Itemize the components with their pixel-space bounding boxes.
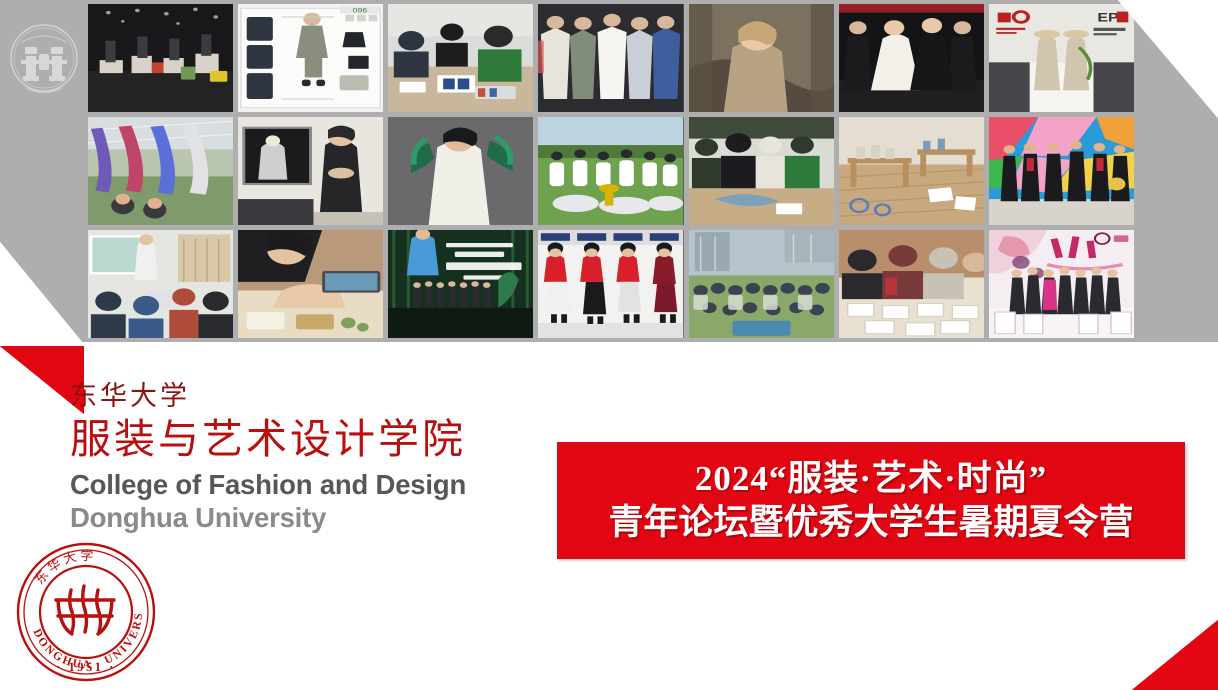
photo-grid: 096 (88, 4, 1134, 338)
band-corner-cut-top-right (1118, 0, 1218, 118)
grid-photo-16 (238, 230, 383, 338)
grid-photo-4 (538, 4, 683, 112)
donghua-university-seal-icon: DONGHUA UNIVERSITY 东华大学 · 1951 · (12, 538, 160, 686)
grid-photo-18 (538, 230, 683, 338)
grid-photo-13 (839, 117, 984, 225)
svg-text:096: 096 (353, 7, 368, 15)
grid-photo-20 (839, 230, 984, 338)
grid-photo-12 (689, 117, 834, 225)
college-name-cn: 服装与艺术设计学院 (70, 414, 550, 465)
grid-photo-11 (538, 117, 683, 225)
band-corner-cut-bottom-left (0, 242, 82, 342)
svg-text:· 1951 ·: · 1951 · (56, 660, 116, 674)
red-corner-accent-bottom-right (1132, 620, 1218, 690)
svg-text:EP: EP (1097, 10, 1118, 24)
grid-photo-19 (689, 230, 834, 338)
presentation-slide: 096 (0, 0, 1218, 690)
grid-photo-8 (88, 117, 233, 225)
photo-collage-band: 096 (0, 0, 1218, 342)
grid-photo-1 (88, 4, 233, 112)
college-identity-block: 东华大学 服装与艺术设计学院 College of Fashion and De… (70, 380, 550, 535)
university-name-cn: 东华大学 (70, 380, 550, 412)
grid-photo-15 (88, 230, 233, 338)
svg-text:东华大学: 东华大学 (31, 548, 96, 587)
grid-photo-14 (989, 117, 1134, 225)
grid-photo-2: 096 (238, 4, 383, 112)
event-title-line-2: 青年论坛暨优秀大学生暑期夏令营 (608, 501, 1133, 545)
grid-photo-6 (839, 4, 984, 112)
donghua-university-watermark-icon (8, 14, 80, 110)
event-title-banner: 2024“服装·艺术·时尚” 青年论坛暨优秀大学生暑期夏令营 (557, 442, 1185, 559)
grid-photo-17 (388, 230, 533, 338)
college-name-en: College of Fashion and Design (70, 468, 550, 502)
event-title-line-1: 2024“服装·艺术·时尚” (695, 457, 1047, 501)
grid-photo-3 (388, 4, 533, 112)
grid-photo-7: EP (989, 4, 1134, 112)
grid-photo-5 (689, 4, 834, 112)
grid-photo-21 (989, 230, 1134, 338)
university-name-en: Donghua University (70, 501, 550, 535)
grid-photo-9 (238, 117, 383, 225)
grid-photo-10 (388, 117, 533, 225)
